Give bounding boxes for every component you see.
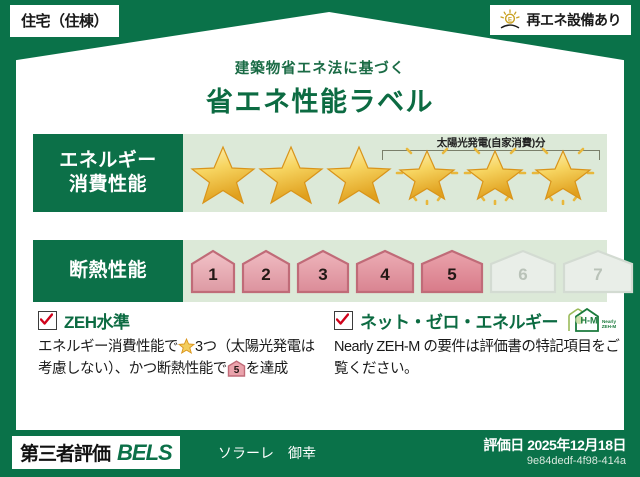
net-zero-energy-description: Nearly ZEH-M の要件は評価書の特記項目をご覧ください。 bbox=[334, 337, 620, 381]
zeh-standard-block: ZEH水準 エネルギー消費性能で3つ（太陽光発電は考慮しない）、かつ断熱性能で5… bbox=[38, 308, 324, 381]
renewable-energy-badge: E 再エネ設備あり bbox=[490, 5, 632, 35]
svg-text:ZEH-M: ZEH-M bbox=[602, 324, 617, 329]
net-zero-energy-title: ネット・ゼロ・エネルギー bbox=[360, 308, 558, 333]
star-icon bbox=[257, 141, 325, 205]
star-rating bbox=[183, 134, 607, 212]
bels-jp-label: 第三者評価 bbox=[20, 439, 110, 466]
bels-certification-mark: 第三者評価 BELS bbox=[12, 436, 180, 469]
building-name: ソラーレ 御幸 bbox=[218, 443, 316, 463]
label-footer: 第三者評価 BELS ソラーレ 御幸 評価日 2025年12月18日 9e84d… bbox=[0, 430, 640, 477]
insulation-performance-label: 断熱性能 bbox=[33, 240, 183, 302]
energy-performance-label: エネルギー 消費性能 bbox=[33, 134, 183, 212]
star-icon bbox=[189, 141, 257, 205]
insulation-grade-badge-inactive: 6 bbox=[488, 248, 558, 294]
star-icon-inline bbox=[178, 338, 195, 354]
bels-energy-label: 住宅（住棟） E 再エネ設備あり 建築物省エネ法に基づく 省エネ性能ラベル bbox=[0, 0, 640, 477]
insulation-grade-badge: 3 bbox=[295, 248, 351, 294]
insulation-grade-badge: 1 bbox=[189, 248, 237, 294]
svg-text:H-M: H-M bbox=[581, 316, 598, 326]
sun-icon: E bbox=[498, 9, 522, 31]
house-icon-inline: 5 bbox=[227, 360, 246, 377]
check-icon bbox=[38, 311, 57, 330]
star-icon-solar bbox=[393, 141, 461, 205]
energy-stars-area: 太陽光発電(自家消費)分 bbox=[183, 134, 607, 212]
zeh-standard-title: ZEH水準 bbox=[64, 308, 130, 333]
evaluation-date: 評価日 2025年12月18日 bbox=[483, 435, 626, 455]
insulation-grade-badge: 5 bbox=[419, 248, 485, 294]
zeh-standard-description: エネルギー消費性能で3つ（太陽光発電は考慮しない）、かつ断熱性能で5を達成 bbox=[38, 337, 324, 381]
insulation-grade-badge: 4 bbox=[354, 248, 416, 294]
building-type-tag: 住宅（住棟） bbox=[10, 5, 119, 37]
zeh-standard-header: ZEH水準 bbox=[38, 308, 324, 332]
svg-text:E: E bbox=[507, 17, 511, 23]
insulation-grades-area: 1 2 bbox=[183, 240, 607, 302]
label-subtitle: 建築物省エネ法に基づく bbox=[16, 57, 624, 78]
insulation-grade-scale: 1 2 bbox=[189, 240, 635, 302]
evaluation-id: 9e84dedf-4f98-414a bbox=[527, 455, 626, 467]
zeh-m-house-logo: H-M Nearly ZEH-M bbox=[567, 307, 619, 333]
page-title: 省エネ性能ラベル bbox=[16, 80, 624, 119]
star-icon-solar bbox=[461, 141, 529, 205]
label-content: 建築物省エネ法に基づく 省エネ性能ラベル エネルギー 消費性能 太陽光発電(自家… bbox=[16, 12, 624, 430]
star-icon bbox=[325, 141, 393, 205]
check-icon bbox=[334, 311, 353, 330]
energy-performance-row: エネルギー 消費性能 太陽光発電(自家消費)分 bbox=[33, 134, 607, 212]
net-zero-energy-block: ネット・ゼロ・エネルギー H-M Nearly ZEH-M Nearly ZEH… bbox=[334, 308, 620, 381]
net-zero-energy-header: ネット・ゼロ・エネルギー H-M Nearly ZEH-M bbox=[334, 308, 620, 332]
bels-logo-text: BELS bbox=[117, 440, 172, 466]
insulation-grade-badge-inactive: 7 bbox=[561, 248, 635, 294]
star-icon-solar bbox=[529, 141, 597, 205]
renewable-badge-label: 再エネ設備あり bbox=[527, 10, 622, 30]
insulation-performance-row: 断熱性能 1 bbox=[33, 240, 607, 302]
insulation-grade-badge: 2 bbox=[240, 248, 292, 294]
